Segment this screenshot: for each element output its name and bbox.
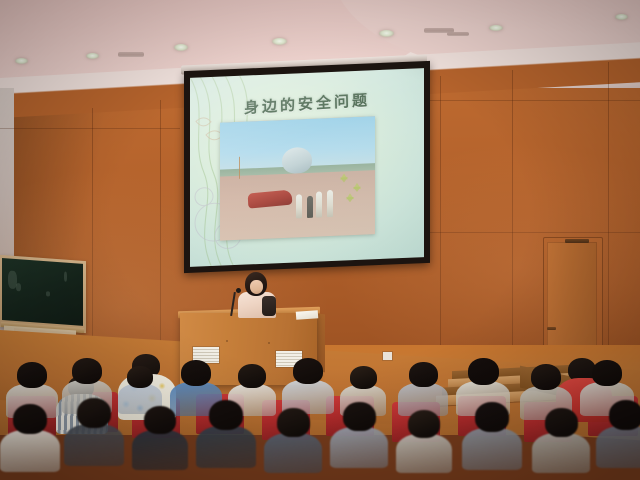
chalkboard: [0, 255, 86, 333]
presenter-arm: [262, 296, 276, 316]
wall-seam: [512, 70, 513, 370]
attendee-head: [409, 362, 438, 387]
slide-photo: [220, 116, 375, 240]
attendee-head: [13, 404, 47, 434]
photo-bystander: [316, 191, 322, 217]
door-closer-icon: [565, 239, 589, 243]
photo-utility-pole: [239, 157, 240, 179]
attendee-torso: [0, 430, 60, 472]
attendee-head: [277, 408, 310, 437]
attendee-head: [592, 360, 622, 386]
chalkboard-surface: [2, 258, 83, 326]
wall-seam-horizontal: [430, 232, 640, 233]
butterfly-icon: [353, 183, 361, 189]
attendee-head: [72, 358, 102, 384]
attendee-head: [475, 402, 509, 432]
wall-seam: [160, 100, 161, 358]
wall-seam: [440, 76, 441, 376]
attendee-torso: [330, 427, 388, 468]
door-handle[interactable]: [547, 327, 556, 330]
butterfly-icon: [340, 173, 348, 179]
attendee-head: [408, 410, 440, 438]
audience-seating: [0, 352, 640, 480]
attendee-head: [609, 400, 640, 430]
chalk-mark: [16, 283, 21, 291]
ceiling-downlight-icon: [15, 58, 28, 64]
ceiling-downlight-icon: [174, 44, 188, 51]
attendee-head: [209, 400, 243, 430]
podium-fastener: [226, 340, 228, 342]
ceiling-downlight-icon: [615, 14, 628, 20]
attendee-head: [293, 358, 323, 384]
lecture-hall-photo: 身边的安全问题: [0, 0, 640, 480]
wall-seam-horizontal: [430, 100, 640, 101]
attendee-head: [343, 402, 376, 431]
ceiling-downlight-icon: [379, 30, 394, 37]
chalk-mark: [64, 272, 67, 282]
projected-slide: 身边的安全问题: [190, 68, 424, 267]
attendee-head: [144, 406, 176, 434]
attendee-torso: [462, 428, 522, 470]
attendee-torso: [596, 426, 640, 468]
attendee-torso: [396, 434, 452, 473]
ceiling-downlight-icon: [272, 38, 287, 45]
projection-screen: 身边的安全问题: [184, 61, 430, 273]
attendee-head: [468, 358, 499, 385]
chalk-mark: [46, 291, 50, 296]
ceiling-downlight-icon: [86, 53, 99, 59]
photo-bystander: [307, 196, 313, 218]
podium-fastener: [268, 342, 270, 344]
attendee-head: [531, 364, 561, 390]
photo-bystander: [296, 194, 302, 218]
ceiling-vent-slot: [118, 52, 144, 57]
podium-papers: [296, 310, 319, 320]
attendee-head: [238, 364, 266, 388]
attendee-torso: [64, 424, 124, 466]
presenter-face: [250, 280, 263, 294]
attendee-torso: [532, 433, 590, 473]
wall-seam: [608, 62, 609, 372]
attendee-torso: [196, 426, 256, 468]
wall-seam-horizontal: [0, 128, 180, 129]
ceiling-downlight-icon: [489, 25, 503, 31]
attendee-head: [77, 398, 111, 428]
attendee-torso: [132, 430, 188, 470]
attendee-head: [17, 362, 47, 388]
ceiling-vent-slot: [447, 32, 469, 36]
attendee-head: [545, 408, 578, 437]
microphone-icon: [236, 288, 241, 293]
attendee-head: [181, 360, 211, 386]
butterfly-icon: [346, 193, 354, 199]
attendee-torso: [264, 433, 322, 473]
attendee-head: [127, 366, 153, 388]
attendee-head: [350, 366, 377, 389]
wall-seam: [92, 108, 93, 358]
photo-bystander: [327, 190, 333, 217]
